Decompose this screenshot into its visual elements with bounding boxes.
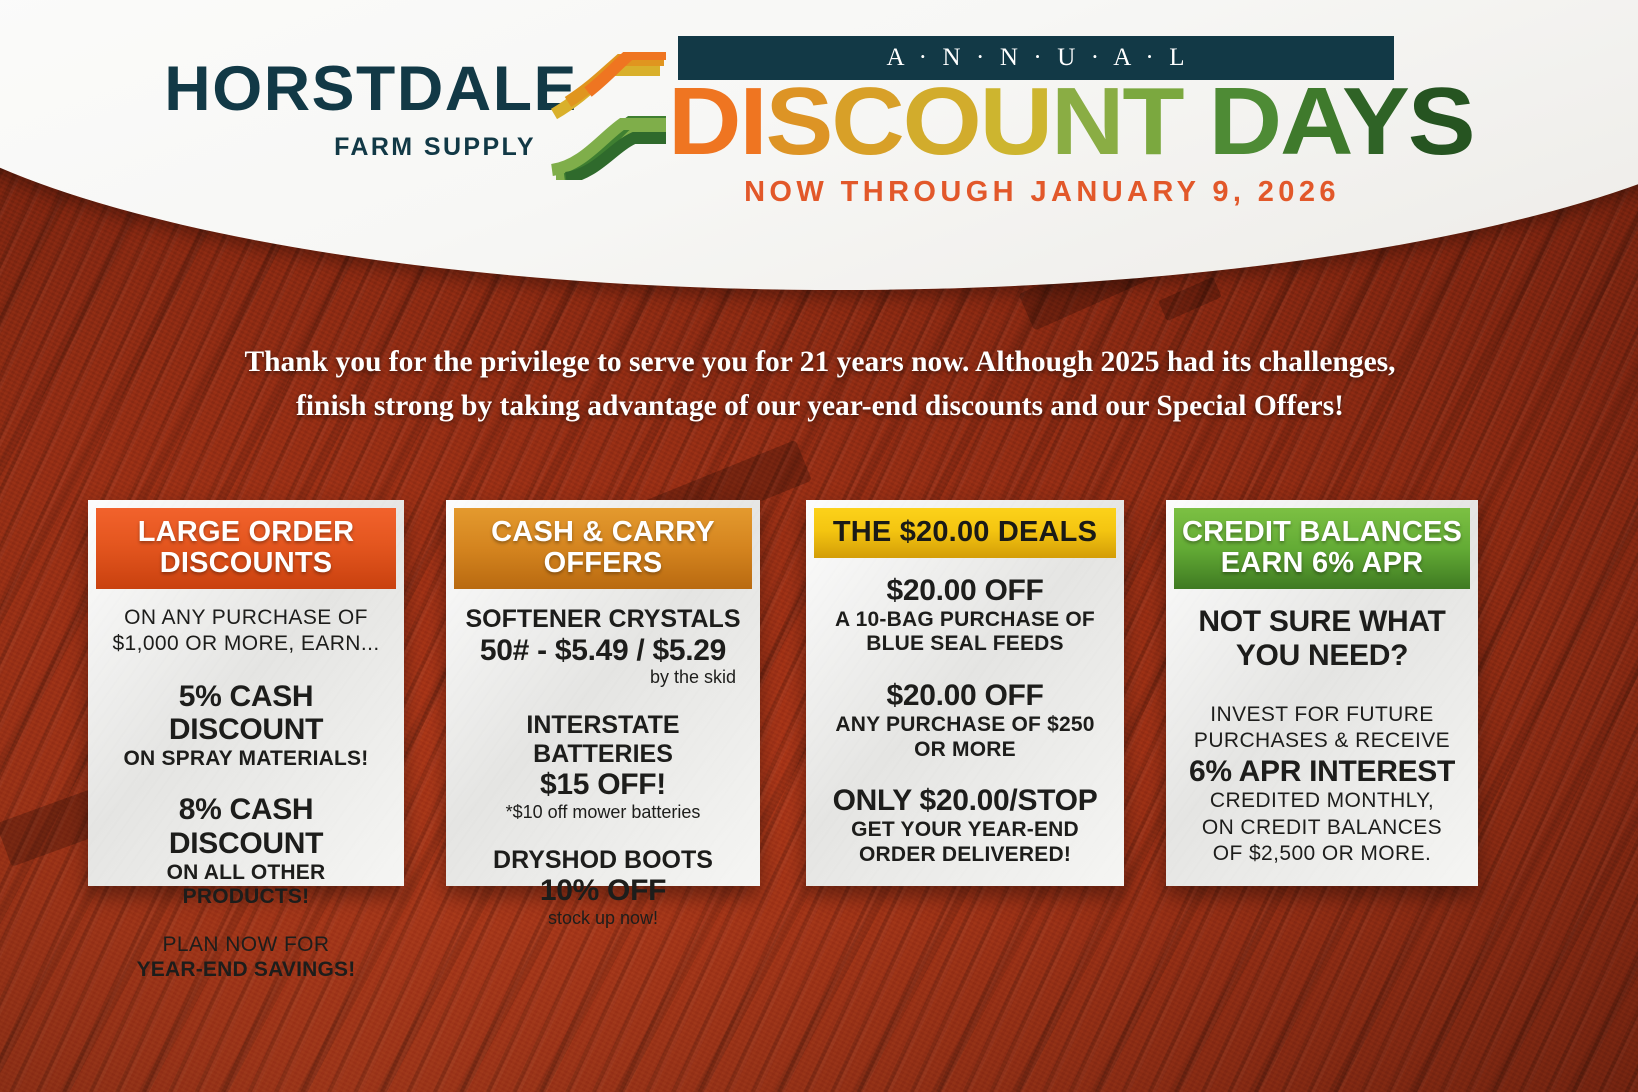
card-spacer [824,657,1106,679]
card-heading-line-1: THE $20.00 DEALS [820,517,1110,548]
card-spacer [464,824,742,846]
card-body-credit-balances: NOT SURE WHATYOU NEED?INVEST FOR FUTUREP… [1174,589,1470,881]
card-line: $15 OFF! [464,768,742,802]
card-heading-line-1: LARGE ORDER [102,517,390,548]
offer-cards: LARGE ORDER DISCOUNTS ON ANY PURCHASE OF… [0,0,1638,1092]
card-line: YEAR-END SAVINGS! [106,958,386,983]
card-line: ON ALL OTHER PRODUCTS! [106,861,386,911]
card-body-20-dollar-deals: $20.00 OFFA 10-BAG PURCHASE OFBLUE SEAL … [814,558,1116,881]
card-body-large-order-discounts: ON ANY PURCHASE OF$1,000 OR MORE, EARN..… [96,589,396,997]
card-line: OF $2,500 OR MORE. [1184,841,1460,867]
card-line: ANY PURCHASE OF $250 [824,713,1106,738]
card-line: INTERSTATE BATTERIES [464,711,742,769]
card-line: $20.00 OFF [824,574,1106,608]
card-line: CREDITED MONTHLY, [1184,788,1460,814]
card-line: ON SPRAY MATERIALS! [106,747,386,772]
card-line: 50# - $5.49 / $5.29 [464,634,742,668]
card-line: OR MORE [824,738,1106,763]
card-header-credit-balances: CREDIT BALANCES EARN 6% APR [1174,508,1470,589]
card-heading-line-2: EARN 6% APR [1180,548,1464,579]
card-line: BLUE SEAL FEEDS [824,632,1106,657]
card-line: A 10-BAG PURCHASE OF [824,608,1106,633]
card-line: PURCHASES & RECEIVE [1184,728,1460,754]
card-heading-line-1: CASH & CARRY OFFERS [460,517,746,579]
offer-card-large-order-discounts[interactable]: LARGE ORDER DISCOUNTS ON ANY PURCHASE OF… [88,500,404,886]
card-line: INVEST FOR FUTURE [1184,702,1460,728]
card-line: 10% OFF [464,874,742,908]
card-line: DRYSHOD BOOTS [464,846,742,875]
card-spacer [1184,672,1460,702]
card-spacer [106,771,386,793]
card-spacer [824,762,1106,784]
card-line: NOT SURE WHAT [1184,605,1460,639]
card-line: 8% CASH DISCOUNT [106,793,386,860]
card-body-cash-and-carry-offers: SOFTENER CRYSTALS50# - $5.49 / $5.29by t… [454,589,752,944]
card-spacer [106,910,386,932]
card-line: ONLY $20.00/STOP [824,784,1106,818]
card-line: YOU NEED? [1184,639,1460,673]
card-spacer [106,658,386,680]
card-line: *$10 off mower batteries [464,802,742,824]
flyer-canvas: HORSTDALE FARM SUPPLY A [0,0,1638,1092]
card-heading-line-1: CREDIT BALANCES [1180,517,1464,548]
card-line: stock up now! [464,908,742,930]
card-heading-line-2: DISCOUNTS [102,548,390,579]
offer-card-cash-and-carry-offers[interactable]: CASH & CARRY OFFERS SOFTENER CRYSTALS50#… [446,500,760,886]
card-line: GET YOUR YEAR-END [824,818,1106,843]
card-header-20-dollar-deals: THE $20.00 DEALS [814,508,1116,558]
card-line: 5% CASH DISCOUNT [106,680,386,747]
offer-card-credit-balances[interactable]: CREDIT BALANCES EARN 6% APR NOT SURE WHA… [1166,500,1478,886]
card-line: ON ANY PURCHASE OF [106,605,386,631]
card-header-cash-and-carry-offers: CASH & CARRY OFFERS [454,508,752,589]
card-header-large-order-discounts: LARGE ORDER DISCOUNTS [96,508,396,589]
card-line: by the skid [464,667,742,689]
card-line: $1,000 OR MORE, EARN... [106,631,386,657]
offer-card-20-dollar-deals[interactable]: THE $20.00 DEALS $20.00 OFFA 10-BAG PURC… [806,500,1124,886]
card-line: SOFTENER CRYSTALS [464,605,742,634]
card-line: PLAN NOW FOR [106,932,386,958]
card-line: $20.00 OFF [824,679,1106,713]
card-line: ORDER DELIVERED! [824,843,1106,868]
card-line: ON CREDIT BALANCES [1184,815,1460,841]
card-line: 6% APR INTEREST [1184,755,1460,789]
card-spacer [464,689,742,711]
